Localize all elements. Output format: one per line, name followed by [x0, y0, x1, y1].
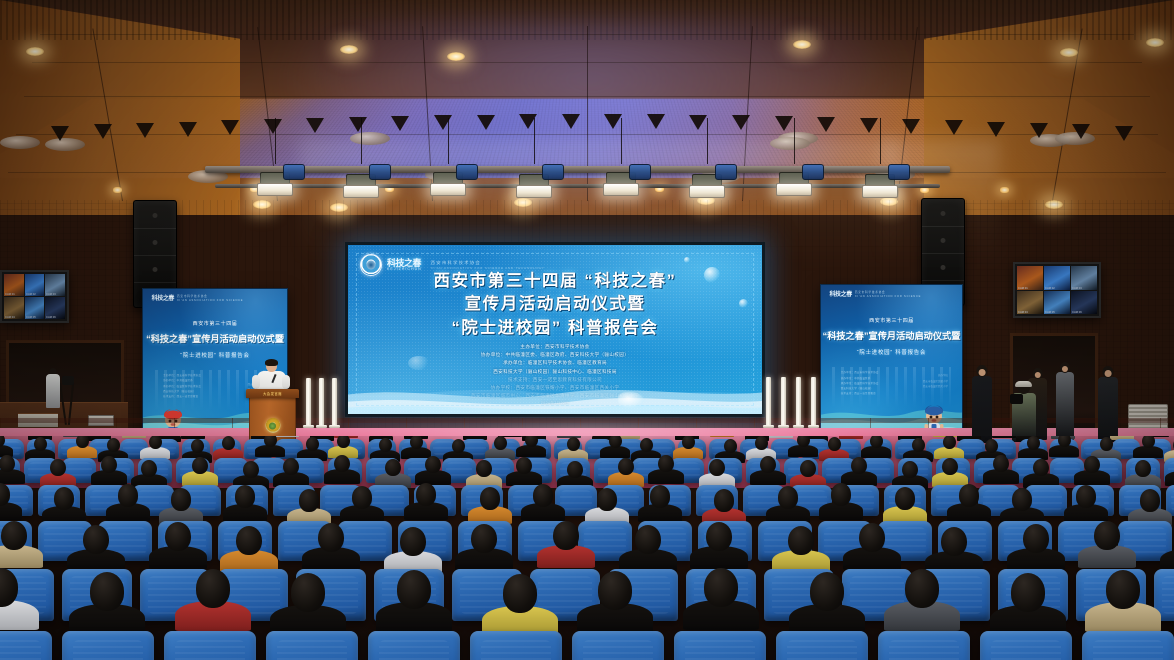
audience-head [788, 526, 814, 555]
cctv-feed-label: CAM 03 [1072, 286, 1082, 290]
acoustic-triangle [1115, 126, 1133, 141]
audience-head [851, 457, 867, 475]
stage-decor-column [766, 377, 771, 426]
audience-head [222, 436, 235, 450]
seated-audience: Joh wish [0, 436, 1174, 660]
audience-head [912, 438, 925, 453]
par-lens [516, 185, 552, 198]
audience-head [416, 483, 436, 505]
audience-seat[interactable] [674, 631, 766, 660]
acoustic-triangle [306, 118, 324, 133]
stage-decor-column [796, 377, 801, 426]
audience-head [192, 457, 208, 475]
banner-pre-line: 西安市第三十四届 [143, 320, 287, 327]
par-lens [603, 183, 639, 196]
cctv-feed-label: CAM 06 [1072, 310, 1082, 314]
cctv-feed-cell: CAM 01 [4, 274, 24, 296]
audience-head [299, 489, 319, 511]
audience-head [50, 459, 66, 477]
cctv-feed-cell: CAM 02 [25, 274, 45, 296]
audience-seat[interactable] [470, 631, 562, 660]
audience-seat[interactable] [266, 631, 358, 660]
wall-washer-light [113, 187, 122, 193]
stage-front-edge [0, 418, 1174, 423]
person-body [1098, 377, 1118, 442]
banner-sub-line: “院士进校园” 科普报告会 [821, 348, 962, 356]
person-body [972, 376, 992, 443]
person-face [979, 369, 986, 376]
acoustic-triangle [264, 119, 282, 134]
cctv-feed-label: CAM 03 [46, 292, 56, 296]
video-camera[interactable] [62, 376, 74, 385]
cctv-feed-label: CAM 05 [26, 315, 36, 319]
stage-column-base [329, 425, 340, 428]
audience-shoulders [1165, 471, 1174, 485]
rigging-cable [621, 118, 622, 164]
ceiling-downlight [447, 52, 465, 61]
audience-head [682, 436, 695, 449]
audience-head [905, 569, 939, 607]
audience-head [724, 439, 737, 454]
acoustic-triangle [51, 126, 69, 141]
audience-head [352, 486, 372, 508]
audience-head [0, 455, 15, 473]
operator-body [46, 374, 60, 408]
cctv-feed-cell: CAM 02 [1044, 266, 1070, 290]
acoustic-triangle [689, 115, 707, 130]
audience-head [709, 459, 725, 477]
audience-head [385, 459, 401, 477]
audience-head [704, 568, 738, 606]
acoustic-triangle [136, 123, 154, 138]
blue-moving-head-fixture [888, 164, 910, 180]
cctv-feed-label: CAM 02 [26, 292, 36, 296]
par-lens [862, 185, 898, 198]
par-lens [689, 185, 725, 198]
cctv-feed-label: CAM 01 [1018, 286, 1028, 290]
audience-head [141, 460, 157, 478]
led-title-line-1: 西安市第三十四届 “科技之春” [348, 270, 762, 293]
rigging-cable [534, 118, 535, 164]
stage-column-base [793, 425, 804, 428]
audience-head [34, 437, 47, 452]
cctv-feed-cell: CAM 03 [1071, 266, 1097, 290]
ceiling-grid-line [40, 34, 1134, 35]
banner-logo: 科技之春 西安市科学技术协会 XI'AN ASSOCIATION FOR SCI… [829, 291, 921, 298]
ceiling-oval-speaker [0, 136, 40, 149]
ceiling-grid-line [32, 62, 1142, 63]
auditorium-photo: CAM 01CAM 02CAM 03CAM 04CAM 05CAM 06 CAM… [0, 0, 1174, 660]
acoustic-triangle [1072, 124, 1090, 139]
stage-decor-column [781, 377, 786, 426]
led-title-block: 西安市第三十四届 “科技之春” 宣传月活动启动仪式暨 “院士进校园” 科普报告会 [348, 270, 762, 340]
presenter-arm-left [252, 375, 260, 389]
ceiling-downlight [1060, 48, 1078, 57]
photographer-cap [1015, 381, 1032, 387]
audience-head [941, 527, 967, 556]
audience-seat[interactable] [980, 631, 1072, 660]
audience-head [76, 436, 89, 448]
audience-head [397, 570, 431, 608]
audience-head [658, 455, 674, 473]
ceiling-grid-line [24, 96, 1150, 97]
rigging-cable [794, 118, 795, 164]
banner-tag-cn: 西安市科学技术协会 [855, 291, 886, 294]
audience-head [452, 439, 465, 454]
audience-head [553, 521, 579, 550]
acoustic-triangle [349, 117, 367, 132]
acoustic-triangle-row [0, 118, 1174, 136]
acoustic-triangle [391, 116, 409, 131]
audience-head [337, 436, 350, 448]
audience-head [1033, 459, 1049, 477]
truss-bar [205, 166, 950, 173]
blue-moving-head-fixture [456, 164, 478, 180]
audience-head [236, 526, 262, 555]
audience-head [533, 484, 553, 506]
acoustic-triangle [604, 114, 622, 129]
acoustic-triangle [732, 115, 750, 130]
banner-tag-cn: 西安市科学技术协会 [177, 295, 208, 298]
audience-head [902, 461, 918, 479]
audience-seat[interactable] [1082, 631, 1174, 660]
ceiling-downlight [1146, 38, 1164, 47]
stage-decor-column [306, 378, 311, 426]
audience-seat[interactable] [0, 631, 52, 660]
audience-head [895, 487, 915, 509]
par-lens [776, 183, 812, 196]
led-credits-block: 主办单位：西安市科学技术协会 协办单位：中共临潼区委、临潼区政府、西安科技大学（… [348, 343, 762, 407]
audience-head [196, 569, 230, 607]
audience-head [800, 460, 816, 478]
par-lens [257, 183, 293, 196]
ceiling-downlight [26, 47, 44, 56]
stage-column-base [303, 425, 314, 428]
banner-sub-line: “院士进校园” 科普报告会 [143, 351, 287, 359]
audience-head [714, 489, 734, 511]
audience-head [235, 485, 255, 507]
banner-logo-mark: 科技之春 [152, 296, 174, 302]
cctv-feed-label: CAM 05 [1045, 310, 1055, 314]
audience-head [1142, 436, 1155, 448]
audience-head [171, 488, 191, 510]
audience-head [859, 523, 885, 552]
audience-head [471, 524, 497, 553]
audience-head [640, 438, 653, 453]
audience-seat[interactable] [368, 631, 460, 660]
audience-head [1, 521, 27, 550]
audience-head [706, 522, 732, 551]
acoustic-triangle [775, 116, 793, 131]
audience-head [503, 574, 537, 612]
rigging-cable [275, 118, 276, 164]
audience-head [410, 436, 423, 449]
acoustic-triangle [477, 115, 495, 130]
audience-head [191, 439, 204, 454]
standing-attendee [1098, 366, 1118, 442]
audience-head [379, 438, 392, 453]
cctv-feed-cell: CAM 05 [1044, 291, 1070, 315]
right-cctv-grid: CAM 01CAM 02CAM 03CAM 04CAM 05CAM 06 [1017, 266, 1097, 314]
audience-head [516, 457, 532, 475]
cctv-feed-label: CAM 04 [1018, 310, 1028, 314]
audience-head [1012, 488, 1032, 510]
audience-head [107, 438, 120, 453]
led-credit-line: 协办学校：西安市临潼区铁耀小学、西安市临潼区西关小学 [348, 384, 762, 392]
audience-head [1100, 437, 1113, 452]
lectern-label: 大会发言席 [246, 391, 299, 396]
banner-logo-tagline: 西安市科学技术协会 XI'AN ASSOCIATION FOR SCIENCE [855, 291, 921, 298]
camera-body-icon [1010, 394, 1023, 404]
led-title-line-2: 宣传月活动启动仪式暨 [348, 293, 762, 316]
lighting-truss [205, 158, 950, 220]
audience-head [165, 522, 191, 551]
acoustic-triangle [434, 115, 452, 130]
acoustic-triangle [562, 114, 580, 129]
audience-seat[interactable] [62, 631, 154, 660]
banner-main-line: “科技之春”宣传月活动启动仪式暨 [821, 328, 962, 342]
banner-main-line: “科技之春”宣传月活动启动仪式暨 [143, 331, 287, 345]
led-credit-line: 主办单位：西安市科学技术协会 [348, 343, 762, 351]
led-mascot-silhouette [618, 392, 644, 408]
audience-head [650, 485, 670, 507]
audience-head [318, 523, 344, 552]
cctv-feed-cell: CAM 04 [4, 297, 24, 319]
acoustic-triangle [179, 122, 197, 137]
acoustic-triangle [94, 124, 112, 139]
audience-head [283, 458, 299, 476]
cctv-feed-label: CAM 01 [5, 292, 15, 296]
led-title-line-3: “院士进校园” 科普报告会 [348, 317, 762, 340]
audience-head [480, 487, 500, 509]
audience-head [760, 456, 776, 474]
cctv-feed-cell: CAM 04 [1017, 291, 1043, 315]
acoustic-triangle [817, 117, 835, 132]
audience-head [598, 571, 632, 609]
decorative-bubble [704, 267, 720, 283]
audience-head [609, 436, 622, 448]
cctv-feed-cell: CAM 06 [1071, 291, 1097, 315]
audience-head [334, 455, 350, 473]
par-lens [430, 183, 466, 196]
banner-tag-en: XI'AN ASSOCIATION FOR SCIENCE [855, 295, 921, 298]
stage-column-base [316, 425, 327, 428]
audience-head [83, 525, 109, 554]
acoustic-triangle [221, 120, 239, 135]
blue-moving-head-fixture [802, 164, 824, 180]
standing-attendee [1056, 362, 1074, 440]
presenter-arm-right [282, 375, 290, 389]
audience-head [567, 437, 580, 452]
banner-logo: 科技之春 西安市科学技术协会 XI'AN ASSOCIATION FOR SCI… [152, 295, 244, 302]
right-cctv-monitor[interactable]: CAM 01CAM 02CAM 03CAM 04CAM 05CAM 06 [1013, 262, 1101, 318]
main-led-screen: 科技之春 KEJIZHICHUN 西安市科学技术协会 XI'AN ASSOCIA… [345, 242, 765, 417]
audience-head [870, 436, 883, 448]
decorative-bubble [408, 356, 430, 370]
audience-head [567, 461, 583, 479]
audience-seat[interactable] [572, 631, 664, 660]
stage-decor-column [811, 377, 816, 426]
stage-decor-column [319, 378, 324, 426]
stage-column-base [763, 425, 774, 428]
blue-moving-head-fixture [283, 164, 305, 180]
audience-head [306, 437, 319, 452]
audience-head [618, 458, 634, 476]
banner-tag-en: XI'AN ASSOCIATION FOR SCIENCE [177, 299, 243, 302]
audience-head [755, 436, 768, 450]
audience-head [54, 487, 74, 509]
audience-head [1011, 573, 1045, 611]
led-logo-tagline: 西安市科学技术协会 XI'AN ASSOCIATION FOR SCIENCE … [431, 260, 545, 271]
cctv-feed-cell: CAM 06 [45, 297, 65, 319]
photographer-with-camera [1012, 380, 1036, 442]
rigging-cable [361, 118, 362, 164]
audience-head [425, 456, 441, 474]
lectern-top: 大会发言席 [246, 389, 299, 398]
audience-seat[interactable] [878, 631, 970, 660]
audience-head [90, 572, 124, 610]
audience-head [291, 573, 325, 611]
rigging-cable [880, 118, 881, 164]
banner-logo-tagline: 西安市科学技术协会 XI'AN ASSOCIATION FOR SCIENCE [177, 295, 243, 302]
ceiling-downlight [340, 45, 358, 54]
cctv-feed-label: CAM 04 [5, 315, 15, 319]
acoustic-triangle [987, 122, 1005, 137]
audience-head [1106, 570, 1140, 608]
audience-head [400, 527, 426, 556]
presenter-hair [265, 359, 278, 366]
audience-head [101, 456, 117, 474]
audience-head [778, 486, 798, 508]
decorative-bubble [684, 257, 690, 263]
audience-head [1027, 436, 1040, 450]
acoustic-triangle [1030, 123, 1048, 138]
left-cctv-grid: CAM 01CAM 02CAM 03CAM 04CAM 05CAM 06 [4, 274, 65, 319]
cctv-feed-cell: CAM 05 [25, 297, 45, 319]
audience-head [1140, 489, 1160, 511]
led-credit-line: 技术支持：西安一诺至思教育科技有限公司 [348, 376, 762, 384]
audience-head [1023, 524, 1049, 553]
standing-attendee [972, 365, 992, 443]
decorative-bubble [739, 299, 748, 308]
audience-head [943, 436, 956, 449]
truss-bar-secondary [215, 184, 940, 188]
stage-column-base [808, 425, 819, 428]
audience-head [494, 436, 507, 450]
cctv-feed-cell: CAM 03 [45, 274, 65, 296]
person-face [1105, 370, 1112, 377]
audience-head [1135, 460, 1151, 478]
audience-head [635, 525, 661, 554]
left-cctv-monitor[interactable]: CAM 01CAM 02CAM 03CAM 04CAM 05CAM 06 [0, 270, 69, 323]
audience-head [959, 484, 979, 506]
audience-seat[interactable] [164, 631, 256, 660]
audience-head [942, 458, 958, 476]
par-lens [343, 185, 379, 198]
audience-head [831, 483, 851, 505]
blue-moving-head-fixture [369, 164, 391, 180]
audience-head [118, 484, 138, 506]
blue-moving-head-fixture [542, 164, 564, 180]
audience-head [828, 437, 841, 452]
acoustic-triangle [945, 120, 963, 135]
acoustic-triangle [902, 119, 920, 134]
person-body [1056, 372, 1074, 440]
rigging-cable [707, 118, 708, 164]
audience-seat[interactable] [776, 631, 868, 660]
cctv-feed-cell: CAM 01 [1017, 266, 1043, 290]
audience-head [1084, 456, 1100, 474]
stage-column-base [778, 425, 789, 428]
ceiling-grid-line [92, 28, 123, 201]
blue-moving-head-fixture [629, 164, 651, 180]
led-credit-line: 西安科技大学（骊山校园）骊山科技中心、临潼区科技局 [348, 368, 762, 376]
camera-operator [46, 368, 60, 408]
stage-decor-column [332, 378, 337, 426]
led-credit-line: 西安市临潼区城市中心、西安市临潼区华清中学、西安市临潼区骊山初级中学 [348, 392, 762, 400]
audience-head [1094, 521, 1120, 550]
audience-head [985, 439, 998, 454]
audience-head [149, 436, 162, 449]
ceiling-downlight [793, 40, 811, 49]
blue-moving-head-fixture [715, 164, 737, 180]
cctv-feed-label: CAM 02 [1045, 286, 1055, 290]
led-date-line: 2024年3月22日 [348, 400, 762, 406]
banner-logo-mark: 科技之春 [829, 292, 851, 298]
banner-pre-line: 西安市第三十四届 [821, 317, 962, 324]
audience-head [810, 572, 844, 610]
audience-head [993, 455, 1009, 473]
gold-institutional-emblem-icon [265, 418, 280, 433]
acoustic-triangle [647, 114, 665, 129]
audience-head [476, 460, 492, 478]
cctv-feed-label: CAM 06 [46, 315, 56, 319]
audience-head [1076, 485, 1096, 507]
wall-washer-light [1000, 187, 1009, 193]
acoustic-triangle [860, 118, 878, 133]
audience-head [243, 461, 259, 479]
audience-head [597, 488, 617, 510]
rigging-cable [448, 118, 449, 164]
